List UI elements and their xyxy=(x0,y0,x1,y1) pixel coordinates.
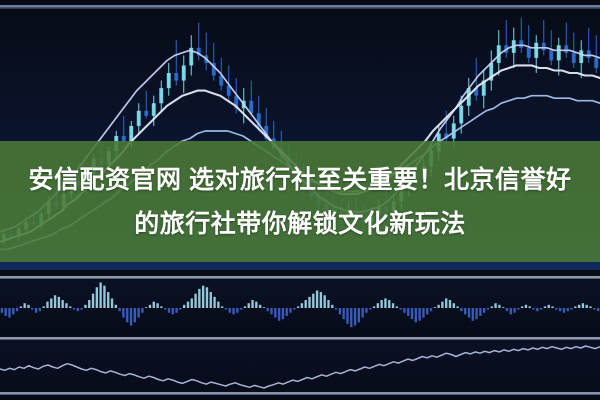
title-banner: 安信配资官网 选对旅行社至关重要！北京信誉好 的旅行社带你解锁文化新玩法 xyxy=(0,141,600,262)
article-banner-image: 安信配资官网 选对旅行社至关重要！北京信誉好 的旅行社带你解锁文化新玩法 xyxy=(0,0,600,400)
title-line-2: 的旅行社带你解锁文化新玩法 xyxy=(134,202,466,246)
title-line-1: 安信配资官网 选对旅行社至关重要！北京信誉好 xyxy=(29,158,572,202)
